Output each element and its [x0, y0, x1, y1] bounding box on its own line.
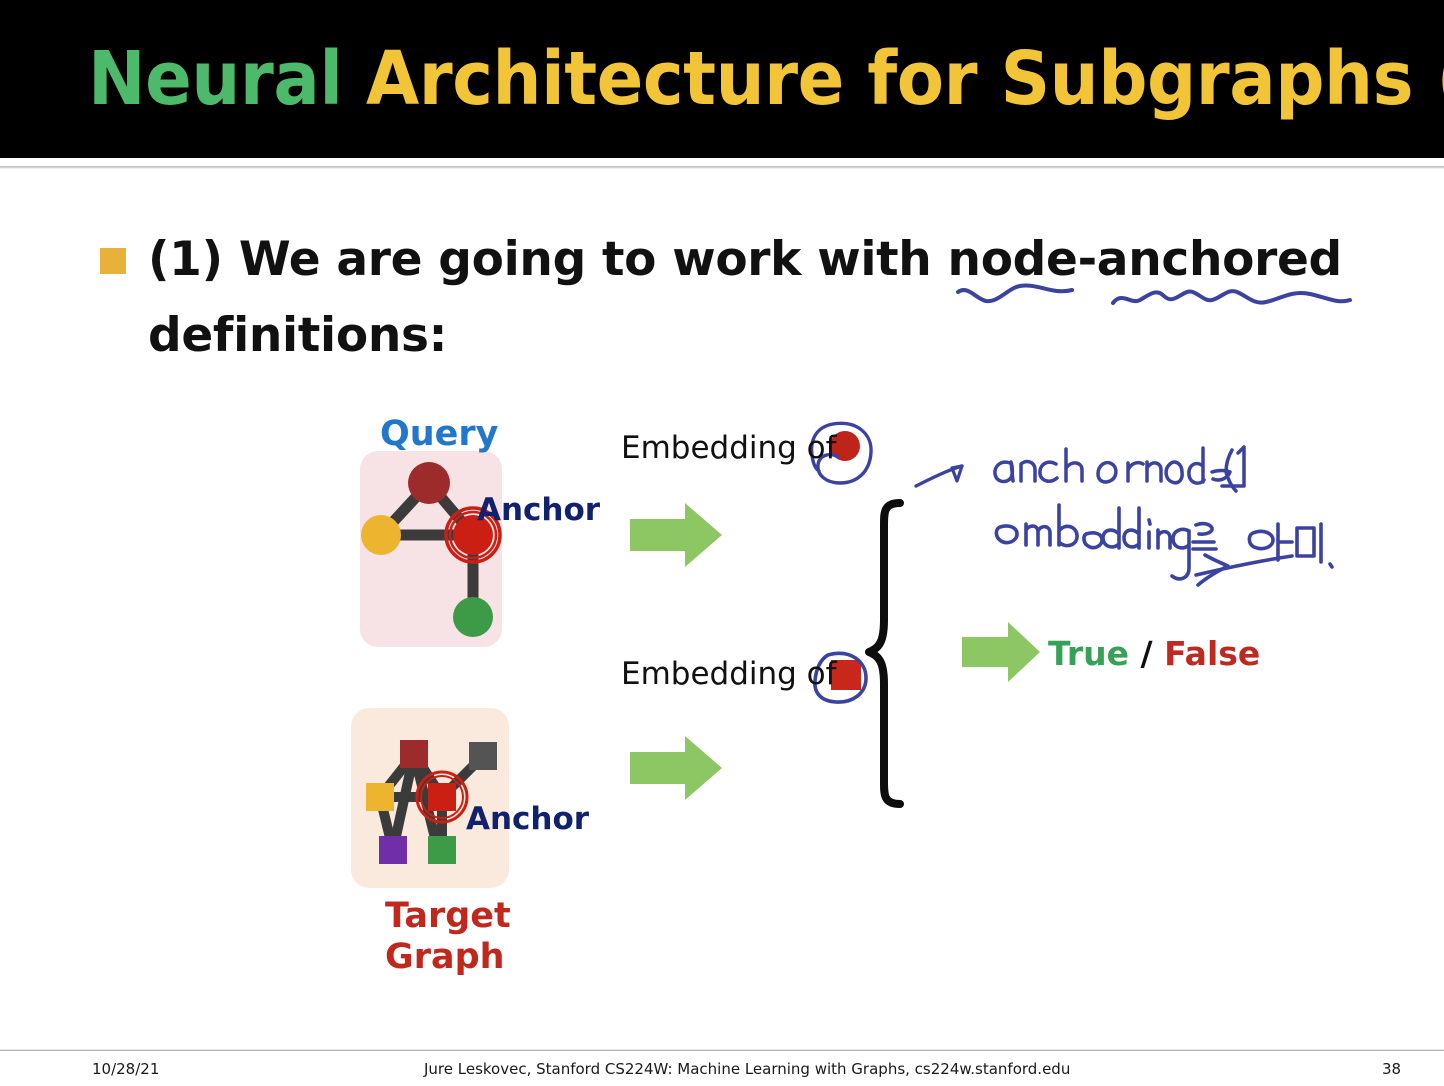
result-separator: /	[1129, 634, 1164, 673]
embedding-label-query: Embedding of	[621, 430, 837, 466]
result-text: True / False	[1048, 634, 1260, 673]
anchor-label-target: Anchor	[466, 801, 589, 837]
title-part-gold: Architecture for Subgraphs (1)	[366, 36, 1444, 122]
query-node-darkred	[408, 462, 450, 504]
arrow-to-result-icon	[962, 622, 1040, 682]
title-divider	[0, 166, 1444, 169]
target-label-line1: Target	[385, 896, 511, 936]
slide-title-bar: Neural Architecture for Subgraphs (1)	[0, 0, 1444, 158]
target-label: TargetGraph	[385, 896, 511, 979]
footer-divider	[0, 1049, 1444, 1051]
bullet-block: (1) We are going to work with node-ancho…	[100, 222, 1370, 374]
footer-attribution: Jure Leskovec, Stanford CS224W: Machine …	[424, 1060, 1070, 1078]
bullet-text-tail: definitions:	[148, 308, 447, 363]
result-true: True	[1048, 634, 1129, 673]
ink-word-anchor	[995, 449, 1143, 482]
target-node-gray	[469, 742, 497, 770]
footer-date: 10/28/21	[92, 1060, 159, 1078]
target-panel-background	[351, 708, 509, 888]
anchor-label-query: Anchor	[477, 492, 600, 528]
result-false: False	[1164, 634, 1260, 673]
square-bullet-icon	[100, 248, 126, 274]
node-anchored-diagram	[0, 0, 1444, 1086]
arrow-target-to-embedding-icon	[630, 736, 722, 800]
ink-pointer-arrow	[916, 466, 962, 486]
page-title: Neural Architecture for Subgraphs (1)	[88, 36, 1444, 122]
bullet-text: (1) We are going to work with node-ancho…	[148, 222, 1370, 374]
bullet-text-bold: node-anchored	[948, 232, 1342, 287]
query-node-yellow	[361, 515, 401, 555]
query-panel-background	[360, 451, 502, 647]
target-node-yellow	[366, 783, 394, 811]
ink-pointer-arrowhead	[952, 466, 962, 481]
target-label-line2: Graph	[385, 937, 505, 977]
target-node-green	[428, 836, 456, 864]
embedding-label-target: Embedding of	[621, 656, 837, 692]
bullet-text-lead: (1) We are going to work with	[148, 232, 948, 287]
target-node-anchor	[428, 783, 456, 811]
ink-word-node-leq-1	[1147, 447, 1244, 491]
query-node-green	[453, 597, 493, 637]
ink-word-embedding-korean	[996, 505, 1332, 585]
target-anchor-ring-outer	[417, 772, 467, 822]
query-graph-nodes	[361, 462, 500, 637]
target-anchor-ring-inner	[421, 776, 463, 818]
target-node-purple	[379, 836, 407, 864]
green-arrows	[630, 503, 1040, 800]
target-node-darkred	[400, 740, 428, 768]
query-label: Query	[380, 414, 498, 454]
grouping-brace	[869, 503, 900, 804]
query-graph-edges	[381, 483, 473, 617]
footer-page-number: 38	[1382, 1060, 1401, 1078]
arrow-query-to-embedding-icon	[630, 503, 722, 567]
title-part-green: Neural	[88, 36, 366, 122]
